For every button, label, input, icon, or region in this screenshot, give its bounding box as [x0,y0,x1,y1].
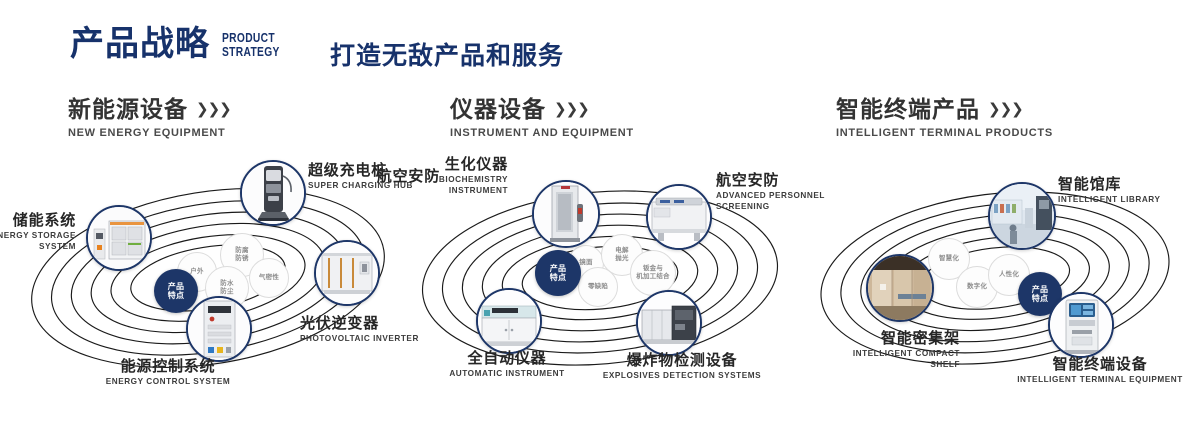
node-energy-control-system[interactable] [186,296,252,362]
feature-bubble-label: 人性化 [999,271,1019,279]
section-heading-intelligent-terminal: 智能终端产品❯❯❯ INTELLIGENT TERMINAL PRODUCTS [836,96,1053,139]
node-intelligent-terminal-equipment[interactable] [1048,292,1114,358]
node-energy-storage-system[interactable] [86,205,152,271]
feature-bubble-label: 数字化 [967,283,987,291]
charging-pile-icon [242,162,304,224]
caption-en: INTELLIGENT TERMINAL EQUIPMENT [990,375,1200,386]
section-title-cn-text: 智能终端产品 [836,96,980,122]
feature-bubble-label: 防水 防尘 [220,280,233,296]
caption-automatic-instrument: 全自动仪器 AUTOMATIC INSTRUMENT [420,350,594,380]
compact-shelf-icon [868,256,932,320]
caption-cn: 全自动仪器 [420,350,594,368]
caption-cn: 智能馆库 [1058,176,1200,194]
caption-cn: 生化仪器 [362,156,508,174]
chevron-right-triple-icon: ❯❯❯ [554,97,589,123]
self-service-kiosk-icon [1050,294,1112,356]
core-bubble-label: 产品 特点 [550,264,567,283]
section-heading-instrument: 仪器设备❯❯❯ INSTRUMENT AND EQUIPMENT [450,96,634,139]
page-subtitle: 打造无敌产品和服务 [330,36,564,72]
page-header: 产品战略 PRODUCT STRATEGY 打造无敌产品和服务 [0,0,1200,88]
feature-bubble-label: 钣金与 机加工结合 [636,265,670,281]
section-title-cn-text: 新能源设备 [68,96,188,122]
section-title-cn: 新能源设备❯❯❯ [68,96,231,123]
node-advanced-personnel-screening[interactable] [646,184,712,250]
cluster-intelligent-terminal: 智慧化 数字化 人性化 产品 特点 [800,150,1200,400]
section-title-en: NEW ENERGY EQUIPMENT [68,127,231,139]
page-title-en: PRODUCT STRATEGY [222,32,280,59]
feature-bubble-label: 电解 抛光 [615,247,628,263]
feature-bubble: 气密性 [249,258,289,298]
core-bubble-product-features: 产品 特点 [535,250,581,296]
caption-en: EXPLOSIVES DETECTION SYSTEMS [582,371,782,382]
caption-en: AUTOMATIC INSTRUMENT [420,369,594,380]
caption-cn: 智能终端设备 [990,356,1200,374]
node-explosives-detection-system[interactable] [636,290,702,356]
section-title-cn: 仪器设备❯❯❯ [450,96,634,123]
caption-intelligent-compact-shelf: 智能密集架 INTELLIGENT COMPACT SHELF [780,330,960,370]
automatic-analyzer-icon [478,290,540,352]
biochemistry-scanner-icon [534,182,598,246]
node-intelligent-library[interactable] [988,182,1056,250]
section-title-cn: 智能终端产品❯❯❯ [836,96,1053,123]
caption-en: ENERGY CONTROL SYSTEM [78,377,258,388]
caption-intelligent-terminal-equipment: 智能终端设备 INTELLIGENT TERMINAL EQUIPMENT [990,356,1200,386]
screening-machine-icon [648,186,710,248]
feature-bubble-label: 智慧化 [939,255,959,263]
node-photovoltaic-inverter[interactable] [314,240,380,306]
chevron-right-triple-icon: ❯❯❯ [196,97,231,123]
core-bubble-label: 产品 特点 [168,282,185,301]
caption-cn: 智能密集架 [780,330,960,348]
section-title-en: INTELLIGENT TERMINAL PRODUCTS [836,127,1053,139]
section-title-cn-text: 仪器设备 [450,96,546,122]
feature-bubble-label: 户外 [190,268,203,276]
caption-en: ENERGY STORAGE SYSTEM [0,231,76,252]
caption-cn: 能源控制系统 [78,358,258,376]
core-bubble-label: 产品 特点 [1032,285,1049,304]
caption-explosives-detection-system: 爆炸物检测设备 EXPLOSIVES DETECTION SYSTEMS [582,352,782,382]
page-title-cn: 产品战略 [70,24,210,64]
battery-cabinet-icon [88,207,150,269]
feature-bubble: 零缺陷 [578,267,618,307]
section-heading-new-energy: 新能源设备❯❯❯ NEW ENERGY EQUIPMENT [68,96,231,139]
explosives-detector-icon [638,292,700,354]
caption-energy-control-system: 能源控制系统 ENERGY CONTROL SYSTEM [78,358,258,388]
caption-cn: 爆炸物检测设备 [582,352,782,370]
feature-bubble-label: 镜面 [579,259,592,267]
node-automatic-instrument[interactable] [476,288,542,354]
smart-library-icon [990,184,1054,248]
cluster-new-energy: 户外 防腐 防锈 气密性 防水 防尘 产品 特点 [8,150,408,400]
node-biochemistry-instrument[interactable] [532,180,600,248]
caption-en: INTELLIGENT LIBRARY [1058,195,1200,206]
caption-en: INTELLIGENT COMPACT SHELF [780,349,960,370]
caption-intelligent-library: 智能馆库 INTELLIGENT LIBRARY [1058,176,1200,206]
caption-cn: 储能系统 [0,212,76,230]
inverter-cabinet-icon [316,242,378,304]
node-super-charging-hub[interactable] [240,160,306,226]
feature-bubble-label: 防腐 防锈 [235,247,248,263]
chevron-right-triple-icon: ❯❯❯ [988,97,1023,123]
control-cabinet-icon [188,298,250,360]
product-strategy-infographic: 产品战略 PRODUCT STRATEGY 打造无敌产品和服务 新能源设备❯❯❯… [0,0,1200,422]
cluster-instrument: 镜面 电解 抛光 钣金与 机加工结合 零缺陷 产品 特点 航空安防 [402,150,802,400]
feature-bubble-label: 零缺陷 [588,283,608,291]
feature-bubble-label: 气密性 [259,274,279,282]
caption-en: BIOCHEMISTRY INSTRUMENT [362,175,508,196]
node-intelligent-compact-shelf[interactable] [866,254,934,322]
caption-energy-storage-system: 储能系统 ENERGY STORAGE SYSTEM [0,212,76,252]
section-title-en: INSTRUMENT AND EQUIPMENT [450,127,634,139]
caption-biochemistry-instrument: 生化仪器 BIOCHEMISTRY INSTRUMENT [362,156,508,196]
